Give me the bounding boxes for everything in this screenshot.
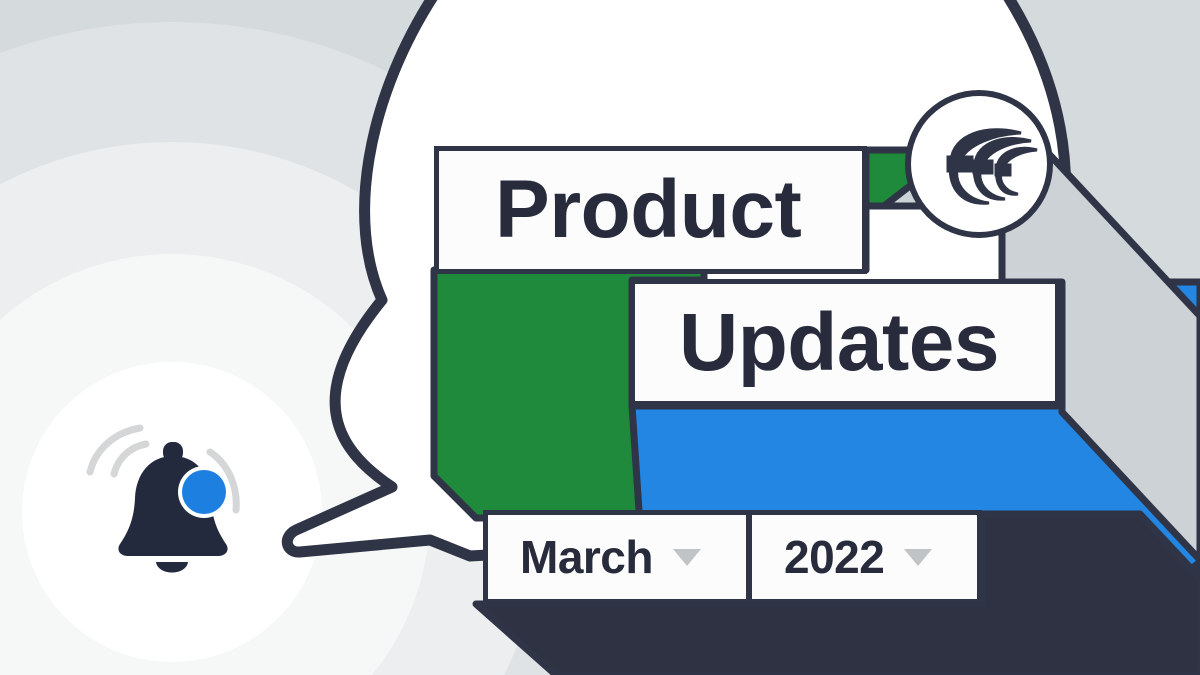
- poster-canvas: Product Updates March 2022: [0, 0, 1200, 675]
- bell-clapper: [156, 562, 188, 573]
- month-dropdown[interactable]: March: [483, 510, 751, 604]
- chevron-down-icon[interactable]: [904, 549, 932, 566]
- headline-card-updates: Updates: [630, 279, 1060, 406]
- headline-card-product: Product: [434, 146, 867, 274]
- year-dropdown-value: 2022: [784, 530, 884, 584]
- year-dropdown[interactable]: 2022: [747, 510, 982, 604]
- notification-dot: [182, 470, 226, 514]
- month-dropdown-value: March: [520, 530, 653, 584]
- chevron-down-icon[interactable]: [673, 549, 701, 566]
- headline-text-updates: Updates: [679, 296, 999, 390]
- brand-logo-badge[interactable]: [903, 88, 1055, 240]
- bell-icon: [78, 420, 268, 590]
- bell-cap: [163, 442, 183, 462]
- headline-text-product: Product: [495, 163, 801, 257]
